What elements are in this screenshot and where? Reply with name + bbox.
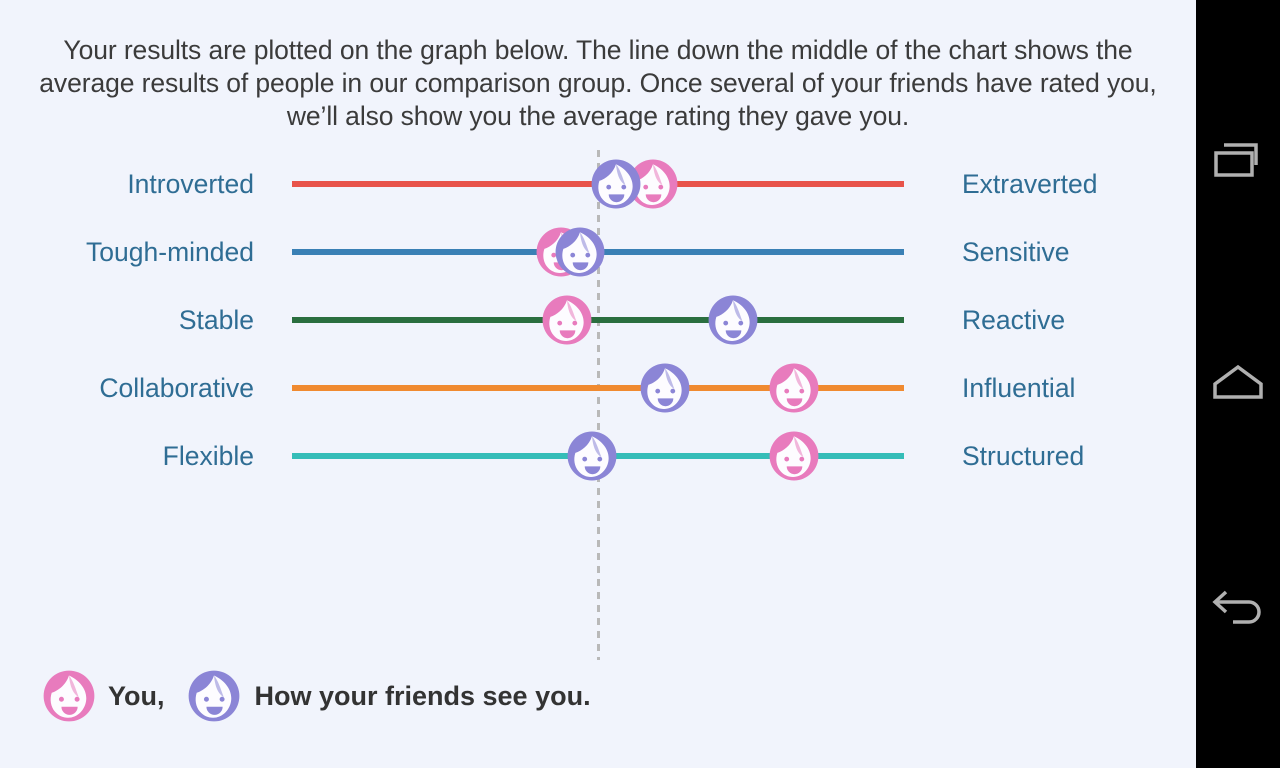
friends-marker[interactable]: [707, 294, 759, 346]
android-navigation-bar: [1196, 0, 1280, 768]
recents-icon: [1212, 139, 1264, 181]
chart-legend: You, How your friends see you.: [42, 668, 591, 724]
row-left-label: Stable: [179, 286, 254, 354]
you-avatar-icon: [42, 669, 96, 723]
chart-row: StableReactive: [0, 286, 1196, 354]
home-button[interactable]: [1196, 340, 1280, 424]
app-screen: Your results are plotted on the graph be…: [0, 0, 1196, 768]
legend-you-label: You,: [108, 681, 165, 712]
back-icon: [1211, 586, 1265, 626]
row-left-label: Introverted: [127, 150, 254, 218]
recents-button[interactable]: [1196, 118, 1280, 202]
back-button[interactable]: [1196, 564, 1280, 648]
friends-marker[interactable]: [639, 362, 691, 414]
row-right-label: Extraverted: [962, 150, 1098, 218]
row-right-label: Structured: [962, 422, 1084, 490]
chart-row: CollaborativeInfluential: [0, 354, 1196, 422]
chart-row: IntrovertedExtraverted: [0, 150, 1196, 218]
chart-row: FlexibleStructured: [0, 422, 1196, 490]
legend-friend-label: How your friends see you.: [255, 681, 591, 712]
you-marker[interactable]: [541, 294, 593, 346]
personality-results-chart: IntrovertedExtravertedTough-mindedSensit…: [0, 150, 1196, 670]
friend-avatar-icon: [187, 669, 241, 723]
row-right-label: Influential: [962, 354, 1075, 422]
row-left-label: Collaborative: [99, 354, 254, 422]
home-icon: [1212, 363, 1264, 401]
chart-row: Tough-mindedSensitive: [0, 218, 1196, 286]
you-marker[interactable]: [768, 430, 820, 482]
you-marker[interactable]: [768, 362, 820, 414]
row-scale-track: [292, 317, 904, 323]
friends-marker[interactable]: [590, 158, 642, 210]
row-left-label: Flexible: [163, 422, 254, 490]
friends-marker[interactable]: [566, 430, 618, 482]
row-left-label: Tough-minded: [86, 218, 254, 286]
friends-marker[interactable]: [554, 226, 606, 278]
intro-paragraph: Your results are plotted on the graph be…: [28, 34, 1168, 133]
row-right-label: Reactive: [962, 286, 1065, 354]
row-right-label: Sensitive: [962, 218, 1070, 286]
